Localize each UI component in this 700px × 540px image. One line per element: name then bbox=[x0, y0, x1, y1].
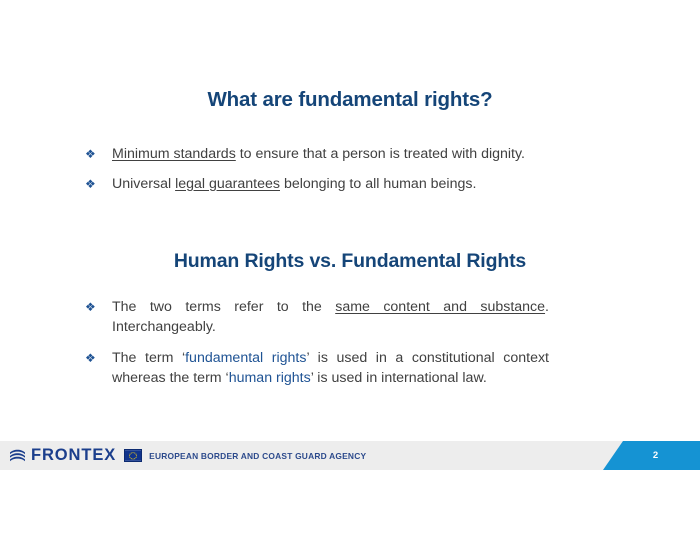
bullet-list-definitions: ❖ Minimum standards to ensure that a per… bbox=[84, 144, 549, 194]
slide-canvas: What are fundamental rights? ❖ Minimum s… bbox=[0, 0, 700, 540]
section-title-human-vs-fundamental: Human Rights vs. Fundamental Rights bbox=[0, 250, 700, 273]
list-item-text-rest: to ensure that a person is treated with … bbox=[236, 146, 525, 162]
list-item-text-post: belonging to all human beings. bbox=[280, 176, 476, 192]
page-title-fundamental-rights: What are fundamental rights? bbox=[0, 88, 700, 112]
highlighted-term-human-rights: human rights bbox=[229, 370, 311, 386]
list-item-text: Minimum standards to ensure that a perso… bbox=[112, 144, 549, 164]
list-item: ❖ Minimum standards to ensure that a per… bbox=[84, 144, 549, 165]
list-item-text: The two terms refer to the same content … bbox=[112, 297, 549, 338]
frontex-wordmark: FRONTEX bbox=[31, 447, 116, 464]
frontex-wave-logo-icon bbox=[9, 448, 26, 463]
underlined-term-same-content-and-substance: same content and substance bbox=[335, 299, 545, 315]
list-item-text-part-1: The term ‘ bbox=[112, 350, 185, 366]
list-item: ❖ The term ‘fundamental rights’ is used … bbox=[84, 348, 549, 389]
diamond-bullet-icon: ❖ bbox=[84, 348, 112, 369]
underlined-term-minimum-standards: Minimum standards bbox=[112, 146, 236, 162]
agency-subtitle: EUROPEAN BORDER AND COAST GUARD AGENCY bbox=[149, 451, 366, 461]
bullet-list-comparison: ❖ The two terms refer to the same conten… bbox=[84, 297, 549, 389]
page-number: 2 bbox=[645, 450, 658, 461]
diamond-bullet-icon: ❖ bbox=[84, 144, 112, 165]
list-item: ❖ Universal legal guarantees belonging t… bbox=[84, 174, 549, 195]
european-union-flag-icon bbox=[124, 449, 142, 462]
list-item-text: Universal legal guarantees belonging to … bbox=[112, 174, 549, 194]
highlighted-term-fundamental-rights: fundamental rights bbox=[185, 350, 306, 366]
list-item: ❖ The two terms refer to the same conten… bbox=[84, 297, 549, 338]
list-item-text-pre: Universal bbox=[112, 176, 175, 192]
footer-branding: FRONTEX EUROPEAN BORDER AND COAST GUARD … bbox=[9, 445, 366, 466]
diamond-bullet-icon: ❖ bbox=[84, 174, 112, 195]
diamond-bullet-icon: ❖ bbox=[84, 297, 112, 318]
list-item-text-pre: The two terms refer to the bbox=[112, 299, 335, 315]
list-item-text: The term ‘fundamental rights’ is used in… bbox=[112, 348, 549, 389]
underlined-term-legal-guarantees: legal guarantees bbox=[175, 176, 280, 192]
list-item-text-part-3: ’ is used in international law. bbox=[311, 370, 487, 386]
